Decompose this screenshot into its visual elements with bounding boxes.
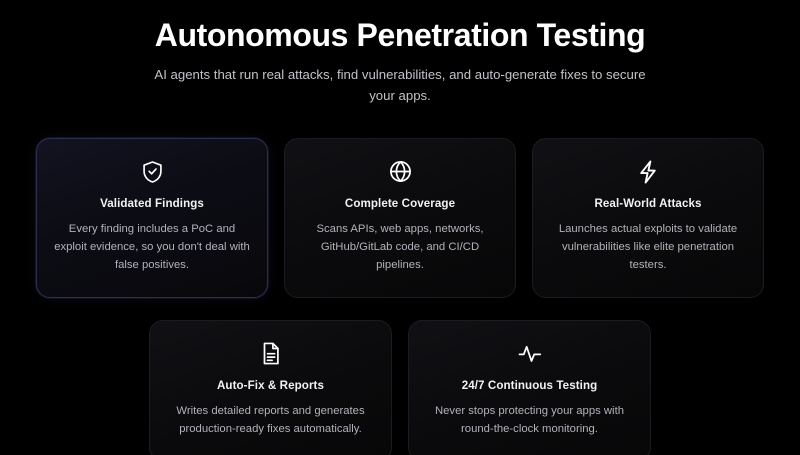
- page-subtitle: AI agents that run real attacks, find vu…: [154, 64, 646, 107]
- file-text-icon: [166, 341, 375, 367]
- feature-card-auto-fix-reports[interactable]: Auto-Fix & Reports Writes detailed repor…: [149, 320, 392, 455]
- feature-card-description: Every finding includes a PoC and exploit…: [53, 220, 251, 275]
- feature-card-title: Auto-Fix & Reports: [166, 379, 375, 393]
- activity-icon: [425, 341, 634, 367]
- feature-card-row-bottom: Auto-Fix & Reports Writes detailed repor…: [0, 320, 800, 455]
- feature-card-description: Scans APIs, web apps, networks, GitHub/G…: [301, 220, 499, 275]
- feature-section: Autonomous Penetration Testing AI agents…: [0, 0, 800, 455]
- feature-card-title: Validated Findings: [53, 197, 251, 211]
- feature-card-title: 24/7 Continuous Testing: [425, 379, 634, 393]
- zap-icon: [549, 159, 747, 185]
- shield-check-icon: [53, 159, 251, 185]
- feature-card-description: Launches actual exploits to validate vul…: [549, 220, 747, 275]
- feature-card-real-world-attacks[interactable]: Real-World Attacks Launches actual explo…: [532, 138, 764, 298]
- feature-card-continuous-testing[interactable]: 24/7 Continuous Testing Never stops prot…: [408, 320, 651, 455]
- section-header: Autonomous Penetration Testing AI agents…: [0, 0, 800, 107]
- globe-icon: [301, 159, 499, 185]
- feature-card-row-top: Validated Findings Every finding include…: [0, 138, 800, 298]
- page-title: Autonomous Penetration Testing: [0, 17, 800, 54]
- feature-card-complete-coverage[interactable]: Complete Coverage Scans APIs, web apps, …: [284, 138, 516, 298]
- feature-card-description: Writes detailed reports and generates pr…: [166, 402, 375, 439]
- feature-card-description: Never stops protecting your apps with ro…: [425, 402, 634, 439]
- feature-card-validated-findings[interactable]: Validated Findings Every finding include…: [36, 138, 268, 298]
- feature-card-title: Real-World Attacks: [549, 197, 747, 211]
- feature-card-title: Complete Coverage: [301, 197, 499, 211]
